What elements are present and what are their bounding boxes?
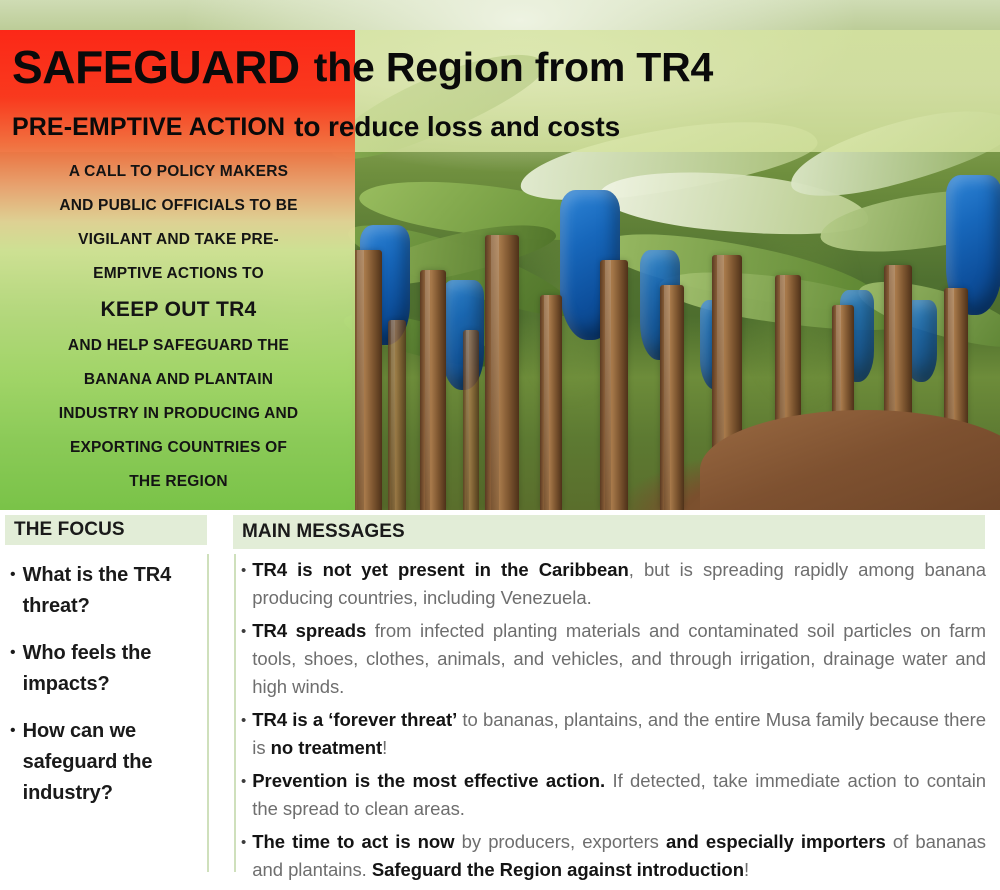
bullet-icon: • bbox=[241, 767, 246, 823]
cta-line: AND PUBLIC OFFICIALS TO BE bbox=[6, 189, 351, 223]
cta-line: EXPORTING COUNTRIES OF bbox=[6, 431, 351, 465]
focus-list-item-label: What is the TR4 threat? bbox=[23, 560, 202, 622]
main-message-text: Prevention is the most effective action.… bbox=[252, 767, 986, 823]
cta-line: AND HELP SAFEGUARD THE bbox=[6, 329, 351, 363]
main-message-text: TR4 is not yet present in the Caribbean,… bbox=[252, 556, 986, 612]
emphasis-run: Prevention is the most effective action. bbox=[252, 770, 605, 791]
banana-pseudostem bbox=[463, 330, 479, 510]
cta-line: A CALL TO POLICY MAKERS bbox=[6, 155, 351, 189]
cta-line: BANANA AND PLANTAIN bbox=[6, 363, 351, 397]
emphasis-run: no treatment bbox=[271, 737, 382, 758]
focus-list-item: •What is the TR4 threat? bbox=[10, 560, 202, 622]
banana-pseudostem bbox=[540, 295, 562, 510]
focus-list-item: •Who feels the impacts? bbox=[10, 638, 202, 700]
main-messages-heading-bar: MAIN MESSAGES bbox=[233, 515, 985, 549]
text-run: ! bbox=[382, 737, 387, 758]
cta-line: THE REGION bbox=[6, 465, 351, 499]
bullet-icon: • bbox=[241, 617, 246, 701]
content-section: THE FOCUS MAIN MESSAGES •What is the TR4… bbox=[0, 510, 1000, 890]
column-divider-left bbox=[207, 554, 209, 872]
banana-pseudostem bbox=[660, 285, 684, 510]
focus-list-item: •How can we safeguard the industry? bbox=[10, 716, 202, 809]
page-subtitle: PRE-EMPTIVE ACTION to reduce loss and co… bbox=[12, 108, 987, 146]
emphasis-run: and especially importers bbox=[666, 831, 886, 852]
subtitle-rest: to reduce loss and costs bbox=[294, 111, 620, 143]
main-message-item: •Prevention is the most effective action… bbox=[241, 767, 986, 823]
emphasis-run: The time to act is now bbox=[252, 831, 454, 852]
focus-list-item-label: How can we safeguard the industry? bbox=[23, 716, 202, 809]
column-divider-right bbox=[234, 554, 236, 872]
subtitle-strong: PRE-EMPTIVE ACTION bbox=[12, 113, 285, 142]
main-message-text: The time to act is now by producers, exp… bbox=[252, 828, 986, 884]
cta-line: VIGILANT AND TAKE PRE- bbox=[6, 223, 351, 257]
cta-line: INDUSTRY IN PRODUCING AND bbox=[6, 397, 351, 431]
title-rest: the Region from TR4 bbox=[314, 47, 713, 88]
banana-pseudostem bbox=[600, 260, 628, 510]
focus-heading-label: THE FOCUS bbox=[14, 519, 125, 541]
bullet-icon: • bbox=[10, 560, 16, 622]
banana-pseudostem bbox=[485, 235, 519, 510]
bullet-icon: • bbox=[241, 706, 246, 762]
bullet-icon: • bbox=[10, 716, 16, 809]
bullet-icon: • bbox=[10, 638, 16, 700]
emphasis-run: TR4 is not yet present in the Caribbean bbox=[252, 559, 628, 580]
title-strong: SAFEGUARD bbox=[12, 44, 300, 90]
main-message-text: TR4 is a ‘forever threat’ to bananas, pl… bbox=[252, 706, 986, 762]
bullet-icon: • bbox=[241, 828, 246, 884]
banana-pseudostem bbox=[420, 270, 446, 510]
cta-line: EMPTIVE ACTIONS TO bbox=[6, 257, 351, 291]
main-message-item: •TR4 is a ‘forever threat’ to bananas, p… bbox=[241, 706, 986, 762]
main-message-text: TR4 spreads from infected planting mater… bbox=[252, 617, 986, 701]
text-run: ! bbox=[744, 859, 749, 880]
main-message-item: •TR4 is not yet present in the Caribbean… bbox=[241, 556, 986, 612]
page-title: SAFEGUARD the Region from TR4 bbox=[12, 32, 987, 102]
focus-list: •What is the TR4 threat?•Who feels the i… bbox=[10, 560, 202, 825]
main-message-item: •TR4 spreads from infected planting mate… bbox=[241, 617, 986, 701]
banana-pseudostem bbox=[352, 250, 382, 510]
main-message-item: •The time to act is now by producers, ex… bbox=[241, 828, 986, 884]
emphasis-run: TR4 spreads bbox=[252, 620, 366, 641]
emphasis-run: Safeguard the Region against introductio… bbox=[372, 859, 744, 880]
main-messages-heading-label: MAIN MESSAGES bbox=[242, 521, 405, 543]
focus-heading-bar: THE FOCUS bbox=[5, 515, 207, 545]
focus-list-item-label: Who feels the impacts? bbox=[23, 638, 202, 700]
banana-pseudostem bbox=[388, 320, 406, 510]
call-to-action-block: A CALL TO POLICY MAKERSAND PUBLIC OFFICI… bbox=[6, 155, 351, 499]
poster-root: SAFEGUARD the Region from TR4 PRE-EMPTIV… bbox=[0, 0, 1000, 890]
emphasis-run: TR4 is a ‘forever threat’ bbox=[252, 709, 457, 730]
hero-section: SAFEGUARD the Region from TR4 PRE-EMPTIV… bbox=[0, 0, 1000, 510]
text-run: by producers, exporters bbox=[455, 831, 666, 852]
cta-line: KEEP OUT TR4 bbox=[6, 291, 351, 329]
bullet-icon: • bbox=[241, 556, 246, 612]
main-messages-list: •TR4 is not yet present in the Caribbean… bbox=[241, 556, 986, 889]
